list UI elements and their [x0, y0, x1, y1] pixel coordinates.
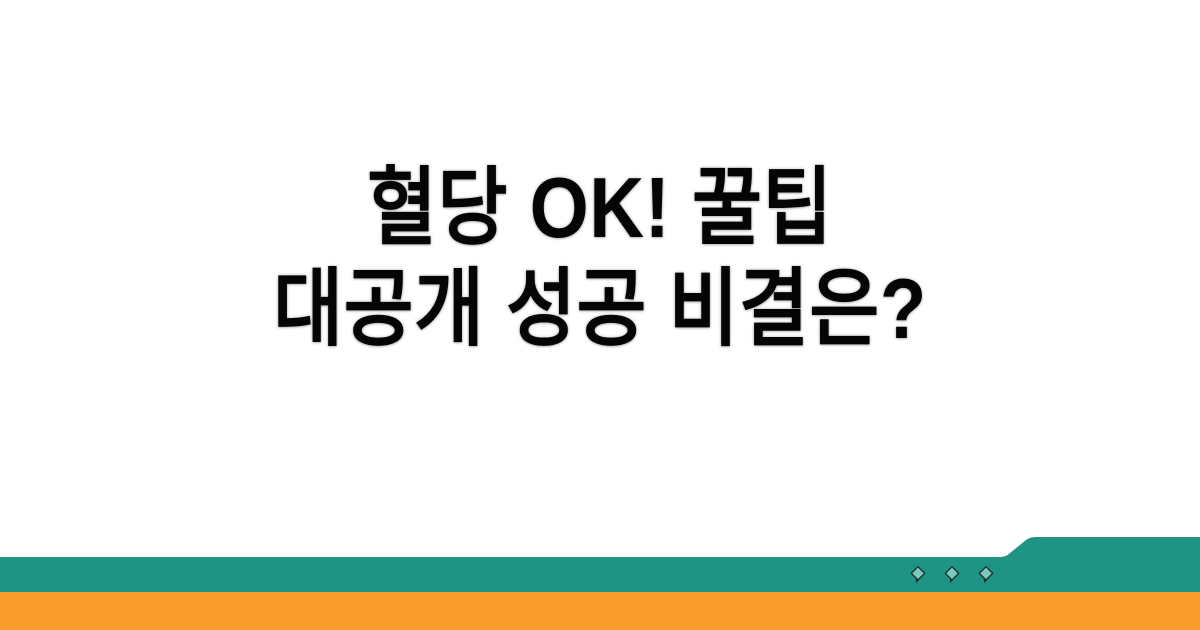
- sparkle-diamond-2-icon: [942, 565, 962, 585]
- thumbnail-card: 혈당 OK! 꿀팁 대공개 성공 비결은?: [0, 0, 1200, 630]
- sparkle-diamond-1-icon: [908, 565, 928, 585]
- sparkle-group: [908, 562, 1008, 588]
- orange-band: [0, 592, 1200, 630]
- headline-line-1: 혈당 OK! 꿀팁: [367, 161, 833, 258]
- teal-band: [0, 537, 1200, 594]
- headline-block: 혈당 OK! 꿀팁 대공개 성공 비결은?: [0, 0, 1200, 520]
- sparkle-diamond-3-icon: [976, 565, 996, 585]
- headline-line-2: 대공개 성공 비결은?: [273, 262, 927, 359]
